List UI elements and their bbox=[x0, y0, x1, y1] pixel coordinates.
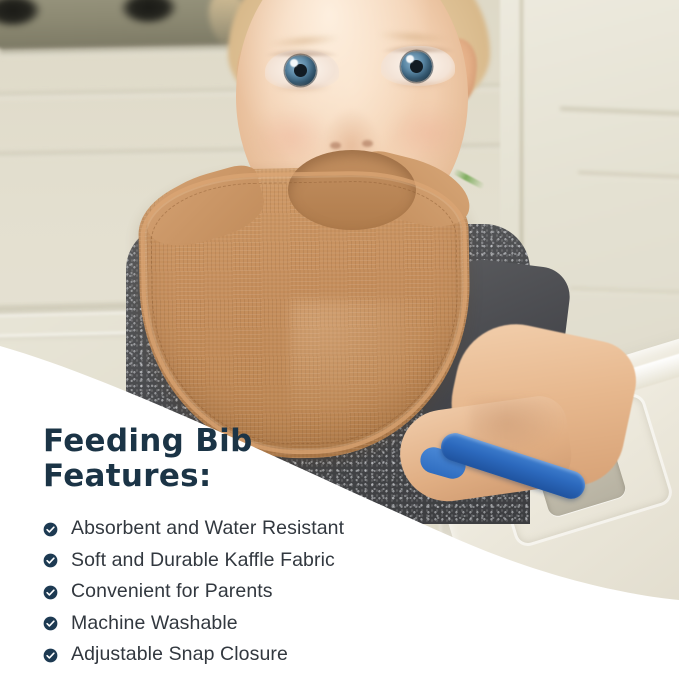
list-item-label: Convenient for Parents bbox=[71, 582, 273, 602]
eye-left bbox=[265, 50, 339, 90]
list-item-label: Adjustable Snap Closure bbox=[71, 645, 288, 665]
eye-under-crease bbox=[387, 82, 449, 89]
list-item: Machine Washable bbox=[43, 611, 603, 636]
check-circle-icon bbox=[43, 616, 58, 631]
product-infographic: Feeding Bib Features: Absorbent and Wate… bbox=[0, 0, 679, 679]
check-circle-icon bbox=[43, 553, 58, 568]
cheek-right bbox=[388, 104, 466, 162]
list-item-label: Machine Washable bbox=[71, 614, 238, 634]
eye-highlight bbox=[290, 59, 298, 67]
list-item: Adjustable Snap Closure bbox=[43, 643, 603, 668]
feature-list: Absorbent and Water Resistant Soft and D… bbox=[43, 517, 603, 668]
eye-highlight bbox=[406, 55, 414, 63]
eye-lid-crease bbox=[381, 44, 455, 52]
nose bbox=[322, 108, 380, 156]
list-item: Soft and Durable Kaffle Fabric bbox=[43, 548, 603, 573]
list-item-label: Absorbent and Water Resistant bbox=[71, 519, 344, 539]
feature-text-block: Feeding Bib Features: Absorbent and Wate… bbox=[43, 424, 603, 674]
check-circle-icon bbox=[43, 585, 58, 600]
page-title: Feeding Bib Features: bbox=[43, 424, 603, 495]
nostril-right bbox=[362, 140, 373, 147]
bib-highlight bbox=[290, 300, 440, 430]
list-item: Absorbent and Water Resistant bbox=[43, 517, 603, 542]
nostril-left bbox=[330, 142, 341, 149]
eye-lid-crease bbox=[265, 48, 339, 56]
eye-under-crease bbox=[271, 86, 333, 93]
check-circle-icon bbox=[43, 648, 58, 663]
eye-right bbox=[381, 46, 455, 86]
check-circle-icon bbox=[43, 522, 58, 537]
list-item-label: Soft and Durable Kaffle Fabric bbox=[71, 551, 335, 571]
list-item: Convenient for Parents bbox=[43, 580, 603, 605]
